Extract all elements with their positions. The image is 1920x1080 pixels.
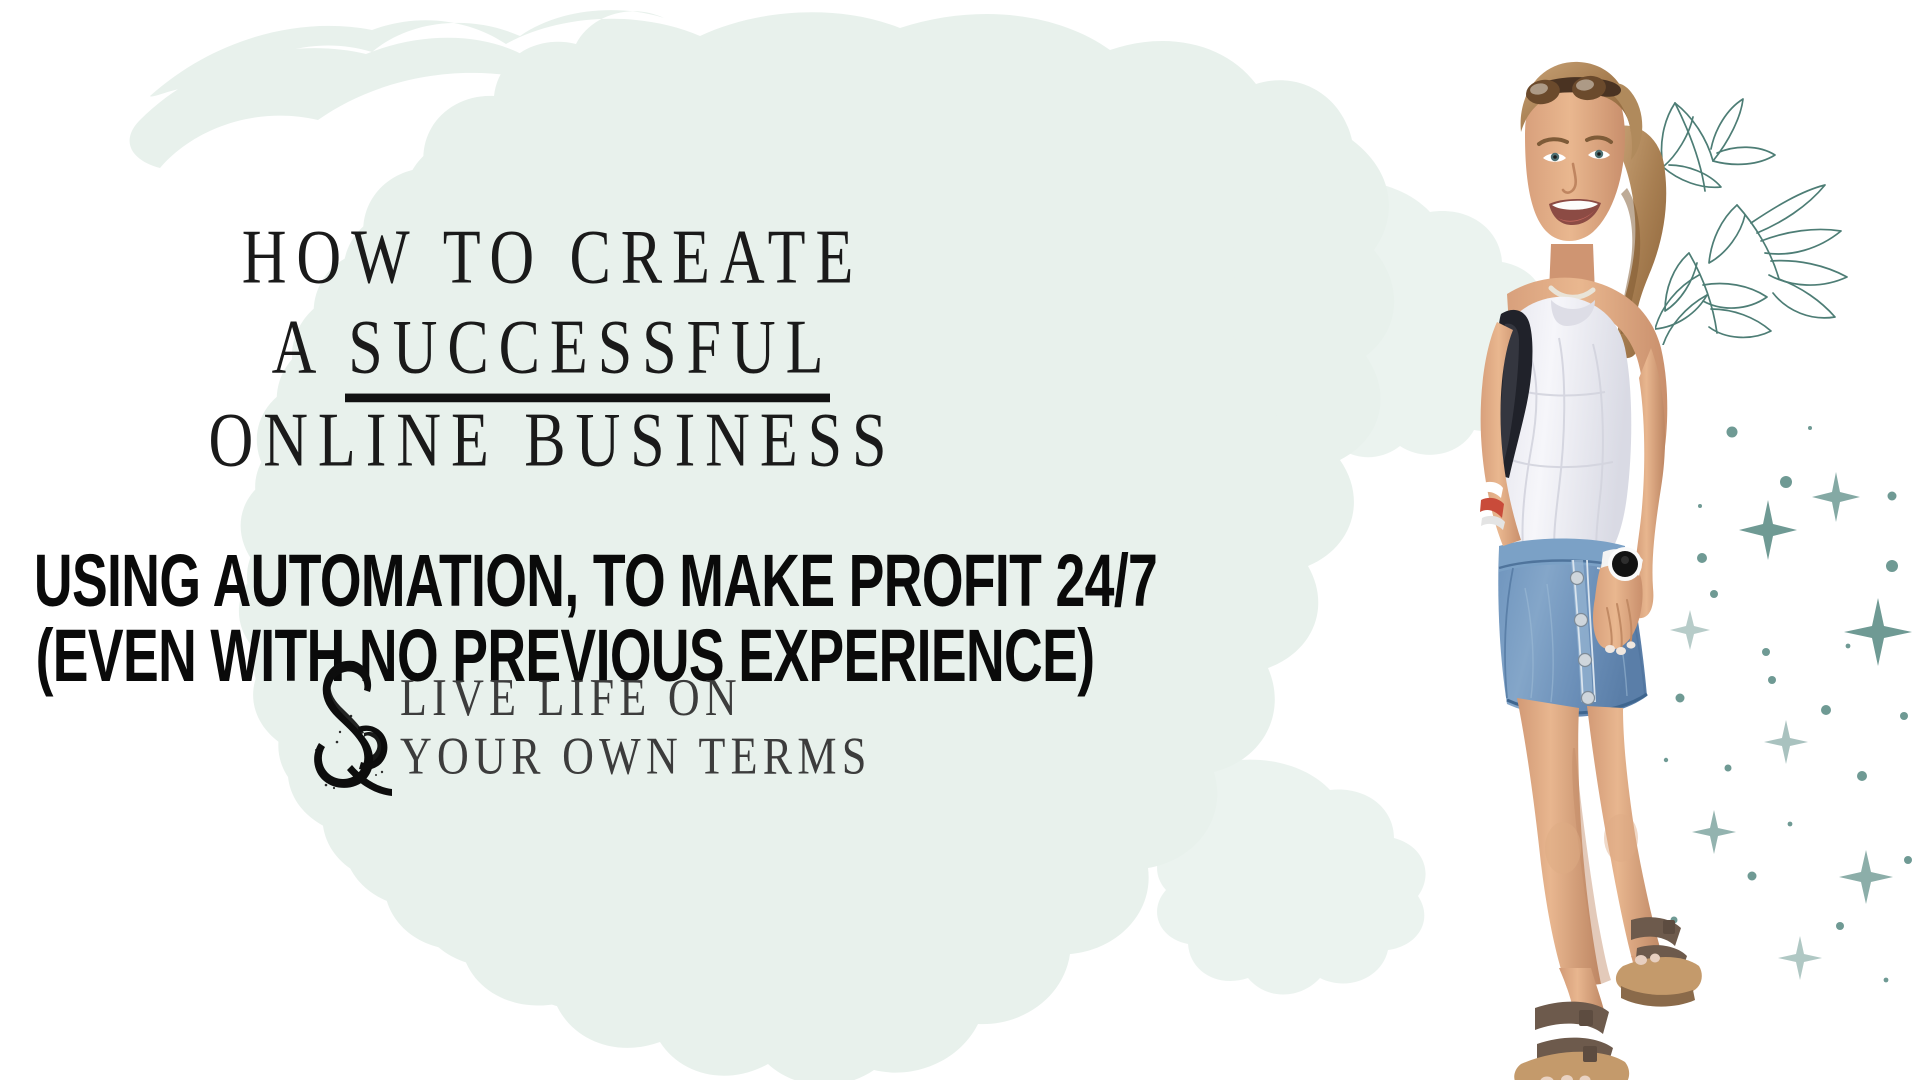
- person-photo: [1455, 48, 1770, 1080]
- subheading-line-1: USING AUTOMATION, TO MAKE PROFIT 24/7: [34, 545, 1096, 619]
- tagline-line-2: YOUR OWN TERMS: [400, 728, 872, 787]
- headline-line-3: ONLINE BUSINESS: [0, 401, 1105, 481]
- headline-line-2: A SUCCESSFUL: [0, 308, 1105, 390]
- banner-canvas: HOW TO CREATE A SUCCESSFUL ONLINE BUSINE…: [0, 0, 1920, 1080]
- headline-line-2-prefix: A: [272, 306, 349, 390]
- headline-group: HOW TO CREATE A SUCCESSFUL ONLINE BUSINE…: [0, 218, 1105, 465]
- tagline-line-1: LIVE LIFE ON: [400, 668, 872, 727]
- headline-emphasis-successful: SUCCESSFUL: [348, 308, 833, 390]
- brush-ampersand-icon: [288, 655, 394, 800]
- headline-line-1: HOW TO CREATE: [0, 218, 1105, 298]
- tagline-group: LIVE LIFE ON YOUR OWN TERMS: [288, 655, 872, 800]
- tagline-text-block: LIVE LIFE ON YOUR OWN TERMS: [400, 668, 872, 786]
